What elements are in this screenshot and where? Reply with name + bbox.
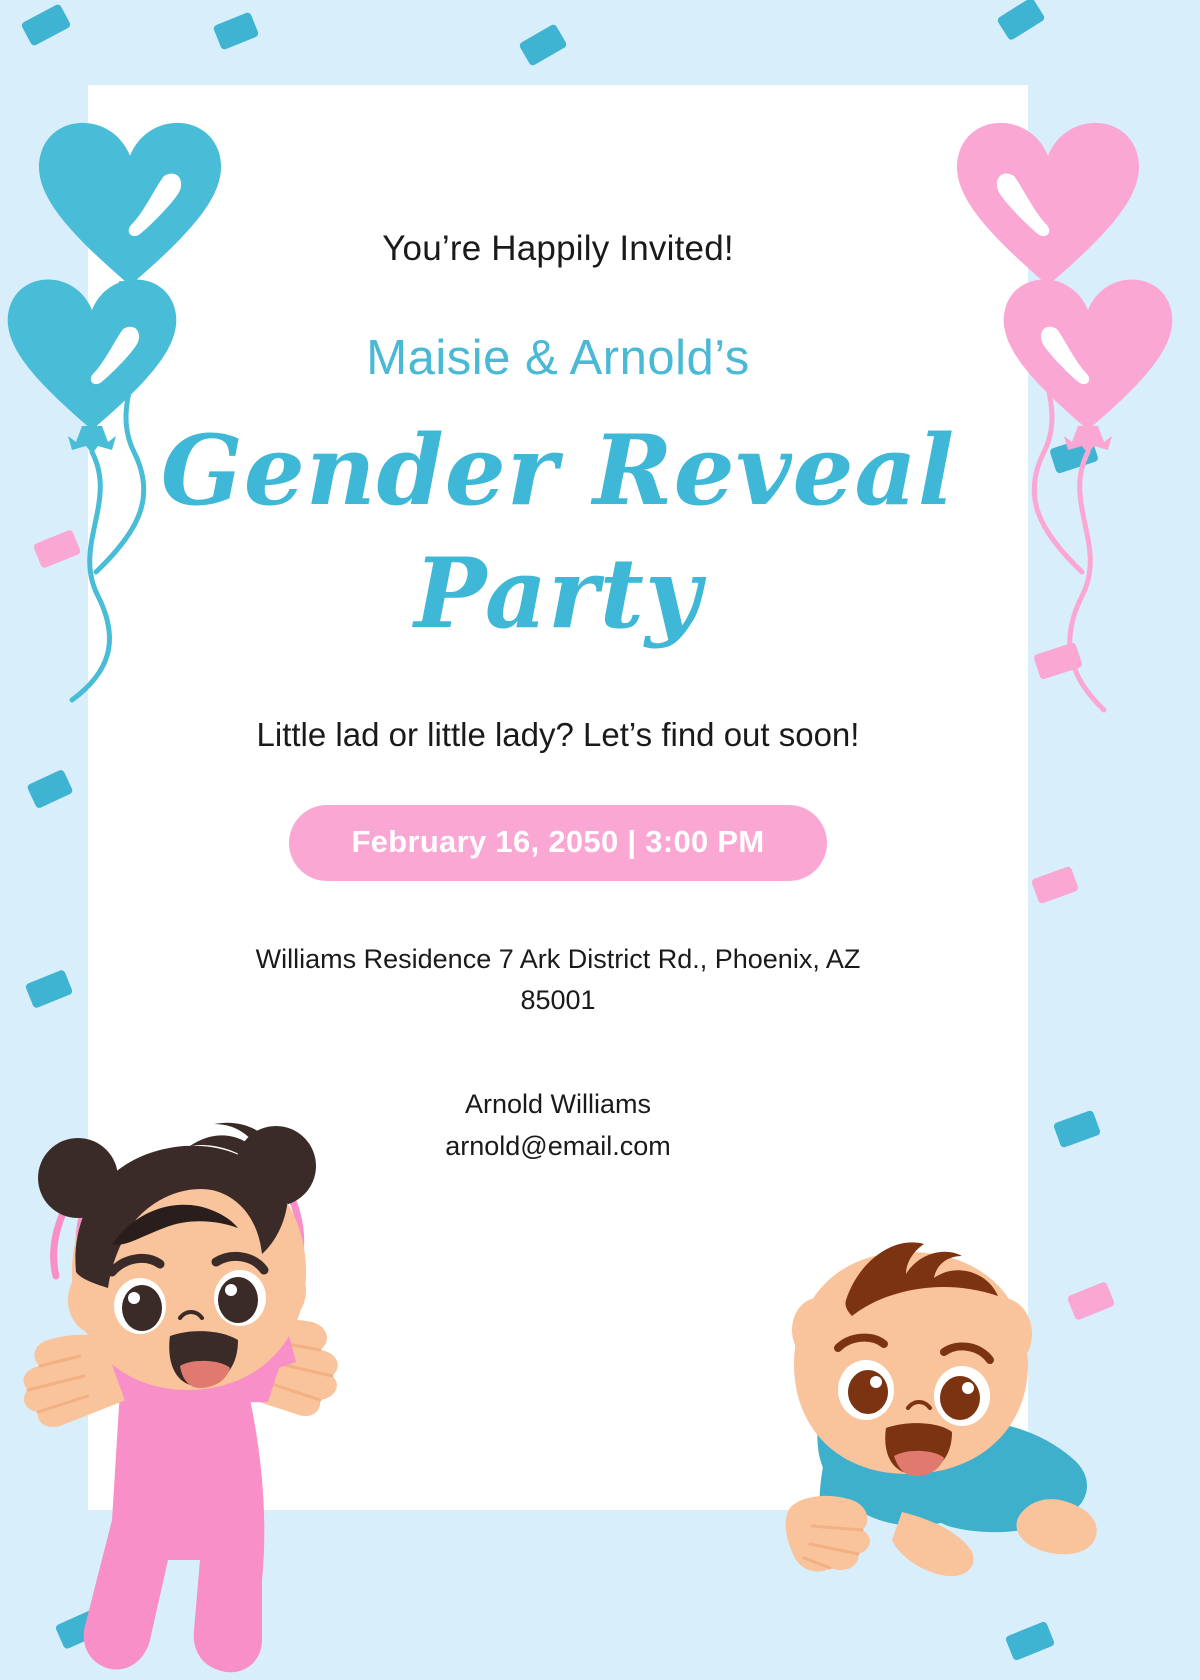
confetti-piece	[518, 23, 567, 67]
confetti-piece	[33, 529, 82, 569]
pink-heart-balloon-bottom-right	[1004, 279, 1173, 710]
host-name: Arnold Williams	[88, 1084, 1028, 1126]
confetti-piece	[1005, 1621, 1056, 1662]
address-line-2: 85001	[130, 980, 986, 1022]
confetti-piece	[20, 3, 71, 47]
confetti-piece	[1053, 1110, 1101, 1149]
confetti-piece	[1049, 436, 1099, 474]
date-time-badge: February 16, 2050 | 3:00 PM	[289, 805, 826, 881]
venue-address: Williams Residence 7 Ark District Rd., P…	[88, 939, 1028, 1023]
event-title-line-2: Party	[128, 533, 988, 656]
confetti-piece	[26, 769, 73, 809]
date-badge-wrapper: February 16, 2050 | 3:00 PM	[88, 805, 1028, 881]
intro-text: You’re Happily Invited!	[88, 228, 1028, 270]
confetti-piece	[1031, 866, 1079, 905]
invitation-poster: You’re Happily Invited! Maisie & Arnold’…	[0, 0, 1200, 1680]
confetti-piece	[25, 969, 74, 1009]
confetti-piece	[996, 0, 1045, 41]
confetti-piece	[55, 1608, 106, 1650]
host-email: arnold@email.com	[88, 1126, 1028, 1168]
tagline-text: Little lad or little lady? Let’s find ou…	[88, 714, 1028, 757]
event-title: Gender Reveal Party	[88, 410, 1028, 656]
invitation-content: You’re Happily Invited! Maisie & Arnold’…	[88, 85, 1028, 1168]
event-title-line-1: Gender Reveal	[128, 410, 988, 533]
confetti-piece	[1033, 642, 1083, 680]
host-contact: Arnold Williams arnold@email.com	[88, 1084, 1028, 1168]
confetti-piece	[213, 11, 260, 50]
address-line-1: Williams Residence 7 Ark District Rd., P…	[130, 939, 986, 981]
couple-names: Maisie & Arnold’s	[88, 332, 1028, 386]
confetti-piece	[1067, 1281, 1116, 1321]
